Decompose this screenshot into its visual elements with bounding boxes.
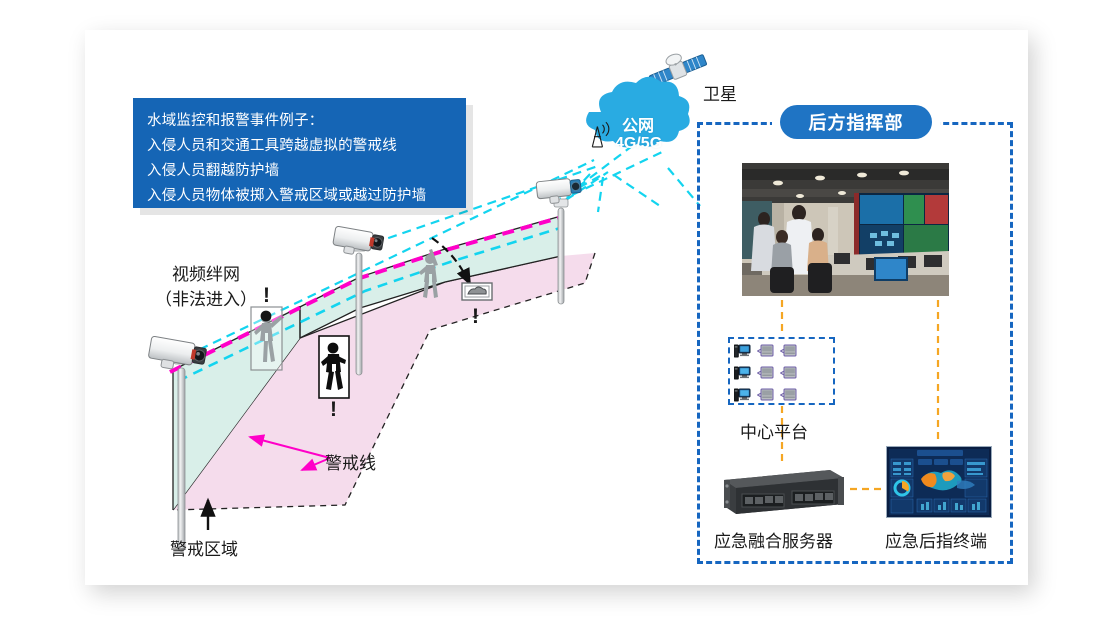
info-line-0: 水域监控和报警事件例子： [147, 109, 466, 134]
server-node-icon [757, 344, 774, 358]
desktop-pc-icon [734, 388, 751, 403]
center-platform-group [728, 337, 835, 405]
emergency-fusion-server-label: 应急融合服务器 [714, 527, 833, 552]
tripwire-label-main: 视频绊网 [155, 262, 257, 287]
info-line-1: 入侵人员和交通工具跨越虚拟的警戒线 [147, 134, 466, 159]
alarm-exclaim-left: ! [263, 284, 270, 308]
alarm-exclaim-middle: ! [330, 398, 337, 422]
satellite-label: 卫星 [703, 80, 737, 105]
emergency-command-terminal [886, 446, 992, 518]
control-room-photo [742, 163, 949, 296]
center-platform-label: 中心平台 [740, 418, 808, 443]
alert-zone-label: 警戒区域 [170, 535, 238, 560]
desktop-pc-icon [734, 366, 751, 381]
server-node-icon [780, 344, 797, 358]
intruder-climbing-box [251, 307, 282, 370]
cloud-text-group: 公网 4G/5G [578, 98, 696, 176]
server-node-icon [757, 366, 774, 380]
diagram-canvas: 水域监控和报警事件例子： 入侵人员和交通工具跨越虚拟的警戒线 入侵人员翻越防护墙… [0, 0, 1117, 642]
workstation-row [730, 363, 833, 383]
info-line-3: 入侵人员物体被掷入警戒区域或越过防护墙 [147, 184, 466, 209]
tripwire-label: 视频绊网 （非法进入） [155, 262, 257, 312]
rear-command-title: 后方指挥部 [780, 105, 932, 139]
thrown-object-box [462, 283, 492, 300]
alert-line-label: 警戒线 [325, 449, 376, 474]
alarm-exclaim-right: ! [472, 305, 479, 329]
desktop-pc-icon [734, 344, 751, 359]
cloud-label-line1: 公网 [622, 112, 654, 136]
info-line-2: 入侵人员翻越防护墙 [147, 159, 466, 184]
workstation-row [730, 341, 833, 361]
server-node-icon [780, 366, 797, 380]
cloud-label-line2: 4G/5G [615, 135, 662, 153]
server-node-icon [780, 388, 797, 402]
workstation-row [730, 385, 833, 405]
intruder-walking-box [319, 336, 349, 398]
emergency-fusion-server [718, 466, 846, 518]
emergency-command-terminal-label: 应急后指终端 [885, 527, 987, 552]
tripwire-label-sub: （非法进入） [155, 287, 257, 312]
event-examples-box: 水域监控和报警事件例子： 入侵人员和交通工具跨越虚拟的警戒线 入侵人员翻越防护墙… [133, 98, 466, 208]
server-node-icon [757, 388, 774, 402]
